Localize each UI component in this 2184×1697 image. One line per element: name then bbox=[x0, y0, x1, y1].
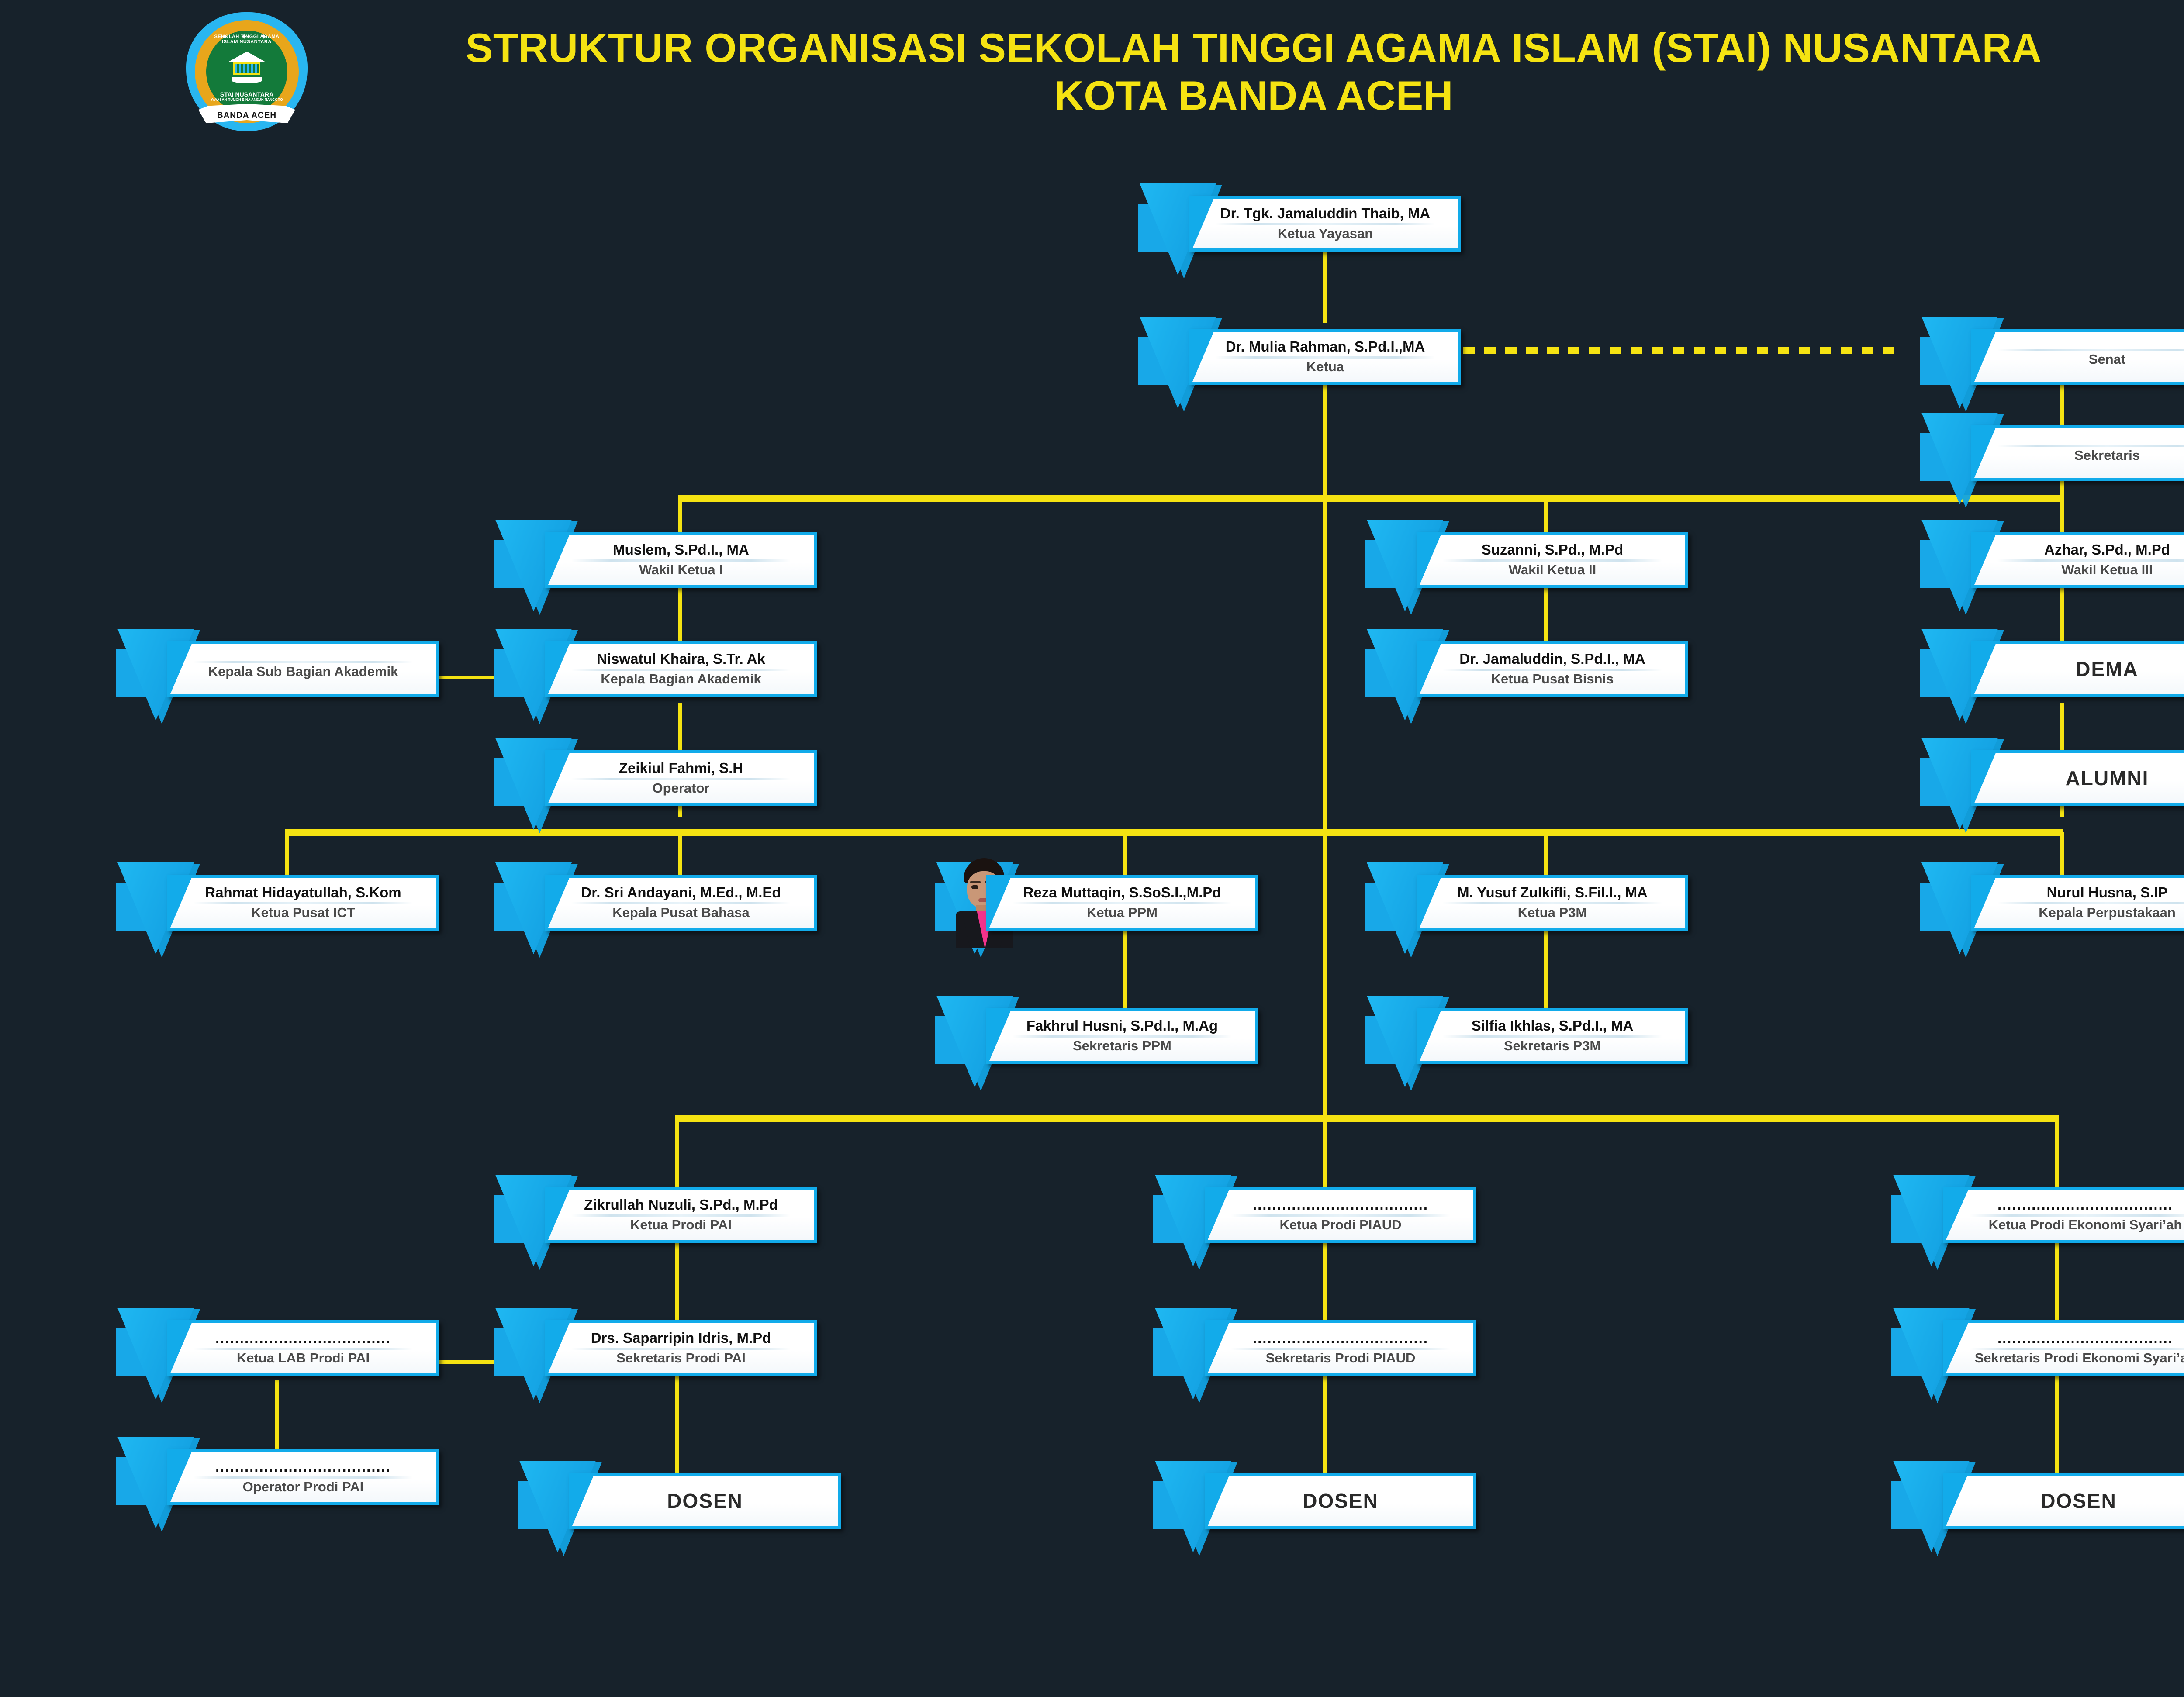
node-person-name: Zeikiul Fahmi, S.H bbox=[619, 761, 743, 776]
node-sekretaris-senat[interactable]: Sekretaris bbox=[1920, 413, 2184, 504]
node-role-title: Kepala Bagian Akademik bbox=[601, 672, 761, 686]
node-ketua-pusat-ict[interactable]: Rahmat Hidayatullah, S.Kom Ketua Pusat I… bbox=[116, 862, 439, 954]
node-dema[interactable]: DEMA bbox=[1920, 629, 2184, 721]
node-card: .................................... Ket… bbox=[167, 1320, 439, 1376]
node-role-title: DOSEN bbox=[1303, 1490, 1379, 1511]
node-card: Dr. Sri Andayani, M.Ed., M.Ed Kepala Pus… bbox=[545, 875, 817, 931]
bus-prodi-row bbox=[675, 1115, 2059, 1122]
node-card: Sekretaris bbox=[1971, 425, 2184, 481]
node-role-title: Sekretaris PPM bbox=[1073, 1039, 1171, 1053]
seal-graphic: ✦ ✦ ✦ SEKOLAH TINGGI AGAMA ISLAM NUSANTA… bbox=[179, 10, 314, 134]
node-divider bbox=[571, 559, 791, 562]
node-role-title: Ketua Yayasan bbox=[1278, 227, 1373, 241]
node-divider bbox=[194, 661, 413, 663]
node-sekretaris-prodi-ekonomi-syariah[interactable]: .................................... Sek… bbox=[1891, 1308, 2184, 1400]
node-role-title: Kepala Perpustakaan bbox=[2039, 906, 2176, 920]
node-ketua-p3m[interactable]: M. Yusuf Zulkifli, S.Fil.I., MA Ketua P3… bbox=[1365, 862, 1688, 954]
node-ketua-prodi-pai[interactable]: Zikrullah Nuzuli, S.Pd., M.Pd Ketua Prod… bbox=[494, 1175, 817, 1266]
node-divider bbox=[194, 1476, 413, 1479]
node-role-title: Ketua Prodi Ekonomi Syari’ah bbox=[1989, 1218, 2182, 1232]
node-role-title: Wakil Ketua III bbox=[2061, 563, 2153, 577]
node-card: .................................... Sek… bbox=[1205, 1320, 1476, 1376]
node-card: Dr. Mulia Rahman, S.Pd.I.,MA Ketua bbox=[1189, 329, 1461, 385]
bus-wakil-ketua bbox=[678, 495, 2063, 502]
node-name-placeholder-dots: .................................... bbox=[215, 1459, 391, 1475]
node-role-title: Ketua P3M bbox=[1518, 906, 1587, 920]
node-wakil-ketua-1[interactable]: Muslem, S.Pd.I., MA Wakil Ketua I bbox=[494, 520, 817, 611]
node-wakil-ketua-2[interactable]: Suzanni, S.Pd., M.Pd Wakil Ketua II bbox=[1365, 520, 1688, 611]
node-role-title: Ketua Prodi PAI bbox=[630, 1218, 732, 1232]
node-card: M. Yusuf Zulkifli, S.Fil.I., MA Ketua P3… bbox=[1417, 875, 1688, 931]
node-operator-prodi-pai[interactable]: .................................... Ope… bbox=[116, 1437, 439, 1528]
node-role-title: Ketua Prodi PIAUD bbox=[1279, 1218, 1401, 1232]
seal-ring-text: SEKOLAH TINGGI AGAMA ISLAM NUSANTARA bbox=[206, 34, 287, 45]
connector-ketua-spine-low bbox=[1323, 832, 1327, 1120]
node-role-title: Ketua bbox=[1306, 360, 1344, 374]
node-divider bbox=[194, 902, 413, 904]
node-card: Nurul Husna, S.IP Kepala Perpustakaan bbox=[1971, 875, 2184, 931]
node-divider bbox=[571, 1214, 791, 1217]
node-person-name: Rahmat Hidayatullah, S.Kom bbox=[205, 885, 401, 900]
node-card: Rahmat Hidayatullah, S.Kom Ketua Pusat I… bbox=[167, 875, 439, 931]
node-card: DOSEN bbox=[1943, 1473, 2184, 1529]
node-divider bbox=[1970, 1214, 2184, 1217]
node-kepala-perpustakaan[interactable]: Nurul Husna, S.IP Kepala Perpustakaan bbox=[1920, 862, 2184, 954]
node-person-name: Dr. Mulia Rahman, S.Pd.I.,MA bbox=[1226, 339, 1425, 355]
node-dosen-pai[interactable]: DOSEN bbox=[518, 1461, 841, 1552]
node-role-title: Sekretaris P3M bbox=[1504, 1039, 1601, 1053]
node-role-title: Operator Prodi PAI bbox=[243, 1480, 364, 1494]
seal-name-main: STAI NUSANTARA bbox=[206, 91, 287, 98]
node-person-name: Dr. Tgk. Jamaluddin Thaib, MA bbox=[1220, 206, 1430, 221]
chart-title: STRUKTUR ORGANISASI SEKOLAH TINGGI AGAMA… bbox=[341, 24, 2167, 119]
node-ketua-yayasan[interactable]: Dr. Tgk. Jamaluddin Thaib, MA Ketua Yaya… bbox=[1138, 183, 1461, 275]
org-chart-canvas: ✦ ✦ ✦ SEKOLAH TINGGI AGAMA ISLAM NUSANTA… bbox=[0, 0, 2184, 1697]
node-ketua-pusat-bisnis[interactable]: Dr. Jamaluddin, S.Pd.I., MA Ketua Pusat … bbox=[1365, 629, 1688, 721]
node-role-title: Wakil Ketua I bbox=[639, 563, 723, 577]
chart-title-line-1: STRUKTUR ORGANISASI SEKOLAH TINGGI AGAMA… bbox=[341, 24, 2167, 72]
node-divider bbox=[194, 1348, 413, 1350]
node-dosen-ekonomi-syariah[interactable]: DOSEN bbox=[1891, 1461, 2184, 1552]
node-divider bbox=[571, 669, 791, 671]
node-card: DOSEN bbox=[1205, 1473, 1476, 1529]
node-divider bbox=[1013, 1035, 1232, 1038]
node-alumni[interactable]: ALUMNI bbox=[1920, 738, 2184, 830]
node-role-title: Wakil Ketua II bbox=[1509, 563, 1596, 577]
node-ketua-prodi-piaud[interactable]: .................................... Ket… bbox=[1153, 1175, 1476, 1266]
node-divider bbox=[1997, 349, 2184, 351]
node-card: Senat bbox=[1971, 329, 2184, 385]
node-sekretaris-prodi-piaud[interactable]: .................................... Sek… bbox=[1153, 1308, 1476, 1400]
bus-pusat-row bbox=[285, 829, 2063, 836]
node-role-title: Senat bbox=[2089, 352, 2125, 367]
node-divider bbox=[1997, 902, 2184, 904]
node-ketua-lab-prodi-pai[interactable]: .................................... Ket… bbox=[116, 1308, 439, 1400]
node-card: Reza Muttaqin, S.SoS.I.,M.Pd Ketua PPM bbox=[986, 875, 1258, 931]
node-name-placeholder-dots: .................................... bbox=[1997, 1331, 2173, 1346]
node-divider bbox=[1216, 356, 1435, 359]
node-role-title: Ketua LAB Prodi PAI bbox=[237, 1351, 370, 1366]
node-kepala-bagian-akademik[interactable]: Niswatul Khaira, S.Tr. Ak Kepala Bagian … bbox=[494, 629, 817, 721]
node-role-title: DOSEN bbox=[667, 1490, 743, 1511]
node-name-placeholder-dots: .................................... bbox=[1253, 1197, 1428, 1213]
node-role-title: Kepala Sub Bagian Akademik bbox=[208, 665, 398, 679]
node-card: Niswatul Khaira, S.Tr. Ak Kepala Bagian … bbox=[545, 641, 817, 697]
institution-logo: ✦ ✦ ✦ SEKOLAH TINGGI AGAMA ISLAM NUSANTA… bbox=[179, 10, 314, 134]
seal-name-sub: YAYASAN RUMOH BINA ANEUK NANGGRO bbox=[206, 98, 287, 102]
node-divider bbox=[1443, 902, 1662, 904]
node-card: Drs. Saparripin Idris, M.Pd Sekretaris P… bbox=[545, 1320, 817, 1376]
node-person-name: Reza Muttaqin, S.SoS.I.,M.Pd bbox=[1023, 885, 1221, 900]
node-role-title: Ketua Pusat ICT bbox=[251, 906, 355, 920]
node-person-name: Niswatul Khaira, S.Tr. Ak bbox=[597, 652, 765, 667]
node-person-name: Silfia Ikhlas, S.Pd.I., MA bbox=[1472, 1018, 1633, 1034]
node-senat[interactable]: Senat bbox=[1920, 317, 2184, 408]
node-card: .................................... Ket… bbox=[1205, 1187, 1476, 1243]
node-role-title: Operator bbox=[653, 781, 710, 796]
node-person-name: M. Yusuf Zulkifli, S.Fil.I., MA bbox=[1457, 885, 1648, 900]
node-divider bbox=[1231, 1214, 1450, 1217]
node-name-placeholder-dots: .................................... bbox=[1997, 1197, 2173, 1213]
connector-ketua-spine-mid bbox=[1323, 498, 1327, 834]
node-role-title: Ketua Pusat Bisnis bbox=[1491, 672, 1614, 686]
node-divider bbox=[1013, 902, 1232, 904]
node-role-title: Sekretaris Prodi PIAUD bbox=[1266, 1351, 1416, 1366]
node-wakil-ketua-3[interactable]: Azhar, S.Pd., M.Pd Wakil Ketua III bbox=[1920, 520, 2184, 611]
node-role-title: Ketua PPM bbox=[1087, 906, 1158, 920]
node-role-title: Sekretaris bbox=[2074, 448, 2140, 463]
node-person-name: Drs. Saparripin Idris, M.Pd bbox=[591, 1331, 771, 1346]
node-divider bbox=[1443, 669, 1662, 671]
node-divider bbox=[1443, 559, 1662, 562]
node-dosen-piaud[interactable]: DOSEN bbox=[1153, 1461, 1476, 1552]
node-divider bbox=[1997, 559, 2184, 562]
node-card: Suzanni, S.Pd., M.Pd Wakil Ketua II bbox=[1417, 532, 1688, 588]
node-ketua-ppm[interactable]: Reza Muttaqin, S.SoS.I.,M.Pd Ketua PPM bbox=[935, 862, 1258, 954]
node-person-name: Nurul Husna, S.IP bbox=[2047, 885, 2168, 900]
seal-house-icon bbox=[228, 52, 266, 80]
node-person-name: Dr. Jamaluddin, S.Pd.I., MA bbox=[1459, 652, 1645, 667]
node-card: Silfia Ikhlas, S.Pd.I., MA Sekretaris P3… bbox=[1417, 1008, 1688, 1064]
node-person-name: Fakhrul Husni, S.Pd.I., M.Ag bbox=[1026, 1018, 1218, 1034]
node-sekretaris-prodi-pai[interactable]: Drs. Saparripin Idris, M.Pd Sekretaris P… bbox=[494, 1308, 817, 1400]
node-person-name: Dr. Sri Andayani, M.Ed., M.Ed bbox=[581, 885, 781, 900]
node-card: .................................... Sek… bbox=[1943, 1320, 2184, 1376]
node-sekretaris-ppm[interactable]: Fakhrul Husni, S.Pd.I., M.Ag Sekretaris … bbox=[935, 996, 1258, 1087]
node-card: .................................... Ope… bbox=[167, 1449, 439, 1505]
node-card: .................................... Ket… bbox=[1943, 1187, 2184, 1243]
node-card: Zikrullah Nuzuli, S.Pd., M.Pd Ketua Prod… bbox=[545, 1187, 817, 1243]
node-divider bbox=[1231, 1348, 1450, 1350]
node-card: DOSEN bbox=[569, 1473, 841, 1529]
node-card: Muslem, S.Pd.I., MA Wakil Ketua I bbox=[545, 532, 817, 588]
node-divider bbox=[1216, 223, 1435, 225]
node-name-placeholder-dots: .................................... bbox=[215, 1331, 391, 1346]
node-divider bbox=[1997, 445, 2184, 447]
node-kepala-sub-bagian-akademik[interactable]: Kepala Sub Bagian Akademik bbox=[116, 629, 439, 721]
node-role-title: DEMA bbox=[2076, 659, 2138, 679]
node-operator[interactable]: Zeikiul Fahmi, S.H Operator bbox=[494, 738, 817, 830]
node-role-title: DOSEN bbox=[2041, 1490, 2117, 1511]
node-divider bbox=[1443, 1035, 1662, 1038]
node-card: Dr. Tgk. Jamaluddin Thaib, MA Ketua Yaya… bbox=[1189, 196, 1461, 252]
node-card: ALUMNI bbox=[1971, 750, 2184, 806]
node-role-title: Kepala Pusat Bahasa bbox=[612, 906, 750, 920]
node-divider bbox=[571, 778, 791, 780]
node-person-name: Azhar, S.Pd., M.Pd bbox=[2044, 542, 2170, 558]
node-card: Fakhrul Husni, S.Pd.I., M.Ag Sekretaris … bbox=[986, 1008, 1258, 1064]
node-card: Azhar, S.Pd., M.Pd Wakil Ketua III bbox=[1971, 532, 2184, 588]
node-card: Zeikiul Fahmi, S.H Operator bbox=[545, 750, 817, 806]
node-divider bbox=[571, 902, 791, 904]
node-card: Kepala Sub Bagian Akademik bbox=[167, 641, 439, 697]
node-role-title: Sekretaris Prodi PAI bbox=[616, 1351, 746, 1366]
chart-title-line-2: KOTA BANDA ACEH bbox=[341, 72, 2167, 119]
node-person-name: Muslem, S.Pd.I., MA bbox=[613, 542, 749, 558]
node-ketua[interactable]: Dr. Mulia Rahman, S.Pd.I.,MA Ketua bbox=[1138, 317, 1461, 408]
node-person-name: Zikrullah Nuzuli, S.Pd., M.Pd bbox=[584, 1197, 778, 1213]
node-role-title: Sekretaris Prodi Ekonomi Syari’ah bbox=[1975, 1351, 2184, 1366]
node-role-title: ALUMNI bbox=[2066, 768, 2149, 789]
node-ketua-prodi-ekonomi-syariah[interactable]: .................................... Ket… bbox=[1891, 1175, 2184, 1266]
node-divider bbox=[571, 1348, 791, 1350]
node-person-name: Suzanni, S.Pd., M.Pd bbox=[1482, 542, 1624, 558]
node-kepala-pusat-bahasa[interactable]: Dr. Sri Andayani, M.Ed., M.Ed Kepala Pus… bbox=[494, 862, 817, 954]
seal-ribbon-text: BANDA ACEH bbox=[198, 111, 295, 121]
node-card: DEMA bbox=[1971, 641, 2184, 697]
node-divider bbox=[1970, 1348, 2184, 1350]
connector-ketua-to-senat-dashed bbox=[1463, 347, 1904, 354]
node-sekretaris-p3m[interactable]: Silfia Ikhlas, S.Pd.I., MA Sekretaris P3… bbox=[1365, 996, 1688, 1087]
node-card: Dr. Jamaluddin, S.Pd.I., MA Ketua Pusat … bbox=[1417, 641, 1688, 697]
node-name-placeholder-dots: .................................... bbox=[1253, 1331, 1428, 1346]
